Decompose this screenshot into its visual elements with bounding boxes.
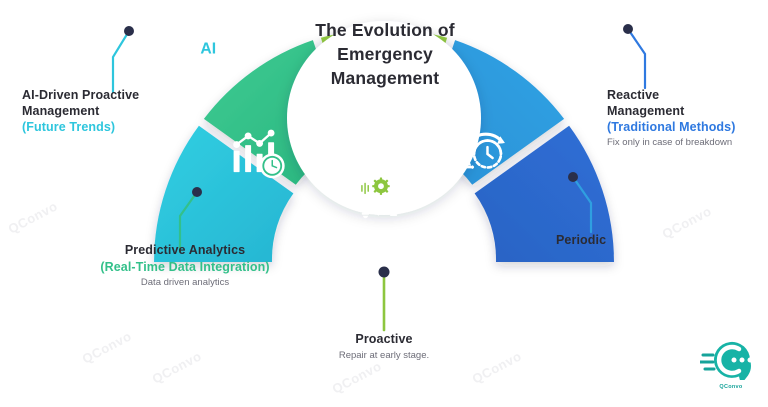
callout-subtext: Data driven analytics [60, 276, 310, 289]
title-line-1: The Evolution of [268, 18, 502, 42]
connector-ai-driven [113, 31, 129, 92]
brand-logo[interactable]: QConvo [700, 340, 762, 388]
callout-title-2: Management [22, 104, 207, 120]
infographic-canvas: QConvo QConvo QConvo QConvo QConvo QConv… [0, 0, 768, 402]
logo-wordmark: QConvo [700, 384, 762, 390]
callout-ai-driven-proactive-management[interactable]: AI-Driven Proactive Management (Future T… [22, 88, 207, 135]
callout-proactive[interactable]: Proactive Repair at early stage. [289, 332, 479, 362]
callout-title: Predictive Analytics [60, 243, 310, 259]
callout-predictive-analytics[interactable]: Predictive Analytics (Real-Time Data Int… [60, 243, 310, 289]
callout-title: Periodic [556, 233, 676, 249]
callout-periodic[interactable]: Periodic [556, 233, 676, 249]
callout-title: AI-Driven Proactive [22, 88, 207, 104]
person-cycle-arrows-icon [523, 25, 567, 70]
callout-title: Proactive [289, 332, 479, 348]
callout-parenthetical: (Traditional Methods) [607, 119, 768, 135]
callout-subtext: Fix only in case of breakdown [607, 136, 768, 149]
ai-chip-network-icon: AI [184, 31, 233, 66]
callout-parenthetical: (Real-Time Data Integration) [60, 259, 310, 275]
callout-parenthetical: (Future Trends) [22, 119, 207, 135]
title-line-3: Management [268, 66, 502, 90]
page-title: The Evolution of Emergency Management [268, 18, 502, 90]
connector-reactive [628, 29, 645, 88]
chat-bubble-logo-icon [700, 340, 762, 380]
callout-title-2: Management [607, 104, 768, 120]
callout-subtext: Repair at early stage. [289, 349, 479, 362]
callout-reactive-management[interactable]: Reactive Management (Traditional Methods… [607, 88, 768, 149]
callout-title: Reactive [607, 88, 768, 104]
title-line-2: Emergency [268, 42, 502, 66]
svg-text:AI: AI [200, 41, 216, 58]
